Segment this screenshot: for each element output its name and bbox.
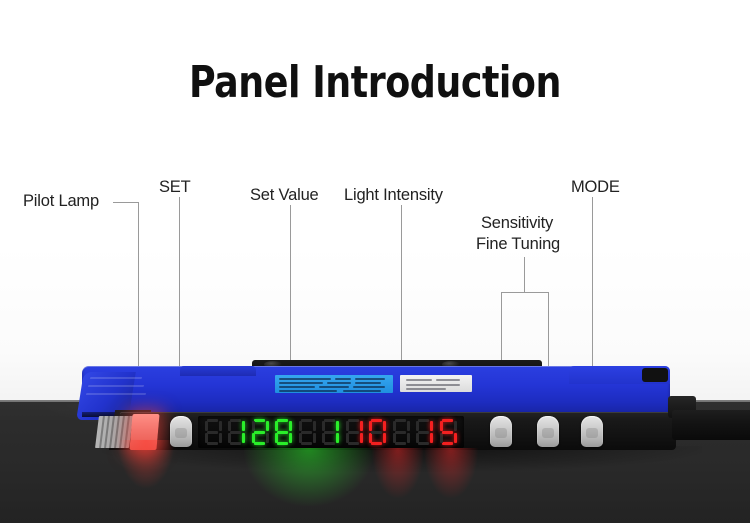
callout-label-set-value: Set Value (250, 186, 319, 205)
segment-d (371, 442, 382, 445)
segment-b (242, 421, 245, 431)
segment-b (219, 421, 222, 431)
segment-a (348, 419, 359, 422)
segment-a (277, 419, 288, 422)
segment-c (242, 433, 245, 443)
segment-g (371, 431, 382, 434)
segment-g (395, 431, 406, 434)
housing-ridge-1 (90, 377, 142, 379)
segment-f (440, 421, 443, 431)
white-spec-sticker (400, 375, 472, 392)
segment-a (207, 419, 218, 422)
segment-g (418, 431, 429, 434)
segment-d (442, 442, 453, 445)
segment-b (313, 421, 316, 431)
segment-e (228, 433, 231, 443)
segment-f (416, 421, 419, 431)
segment-f (299, 421, 302, 431)
segment-c (289, 433, 292, 443)
led-digit-5 (319, 419, 341, 445)
segment-f (228, 421, 231, 431)
segment-e (416, 433, 419, 443)
callout-label-set: SET (159, 178, 191, 197)
segment-b (289, 421, 292, 431)
segment-a (395, 419, 406, 422)
segment-e (205, 433, 208, 443)
segment-e (369, 433, 372, 443)
led-display (198, 416, 464, 448)
led-digit-3 (272, 419, 294, 445)
segment-d (230, 442, 241, 445)
segment-d (254, 442, 265, 445)
segment-f (252, 421, 255, 431)
segment-a (442, 419, 453, 422)
leader-sensitivity-bracket (501, 292, 549, 293)
segment-g (442, 431, 453, 434)
sensitivity-button-2[interactable] (537, 416, 559, 447)
blue-spec-sticker (275, 375, 393, 393)
segment-d (207, 442, 218, 445)
segment-e (275, 433, 278, 443)
segment-c (407, 433, 410, 443)
segment-d (395, 442, 406, 445)
segment-g (348, 431, 359, 434)
pilot-lamp-indicator (129, 414, 159, 450)
segment-a (371, 419, 382, 422)
segment-e (393, 433, 396, 443)
segment-g (230, 431, 241, 434)
led-digit-4 (296, 419, 318, 445)
segment-c (430, 433, 433, 443)
screenshot-canvas: Panel Introduction Pilot Lamp SET Set Va… (0, 0, 750, 523)
callout-label-mode: MODE (571, 178, 620, 197)
callout-label-pilot-lamp: Pilot Lamp (23, 192, 99, 211)
led-digit-6 (343, 419, 365, 445)
segment-d (348, 442, 359, 445)
mode-button[interactable] (581, 416, 603, 447)
housing-ridge-2 (88, 385, 144, 387)
segment-b (383, 421, 386, 431)
led-digit-1 (225, 419, 247, 445)
leader-sensitivity-stem (524, 257, 525, 293)
set-button[interactable] (170, 416, 192, 447)
segment-a (254, 419, 265, 422)
segment-g (301, 431, 312, 434)
segment-e (440, 433, 443, 443)
leader-pilot-lamp-horizontal (113, 202, 139, 203)
page-title: Panel Introduction (30, 57, 720, 108)
segment-b (336, 421, 339, 431)
segment-e (299, 433, 302, 443)
segment-b (454, 421, 457, 431)
segment-g (324, 431, 335, 434)
callout-label-sensitivity-line2: Fine Tuning (476, 234, 560, 254)
segment-a (418, 419, 429, 422)
sensor-device (72, 352, 682, 450)
segment-c (383, 433, 386, 443)
segment-a (324, 419, 335, 422)
segment-b (360, 421, 363, 431)
segment-f (275, 421, 278, 431)
segment-c (266, 433, 269, 443)
led-digit-7 (366, 419, 388, 445)
segment-f (393, 421, 396, 431)
housing-ridge-3 (86, 393, 146, 395)
led-digit-10 (437, 419, 459, 445)
segment-d (301, 442, 312, 445)
segment-g (277, 431, 288, 434)
callout-label-sensitivity-line1: Sensitivity (481, 213, 553, 233)
segment-f (322, 421, 325, 431)
led-digit-2 (249, 419, 271, 445)
segment-b (430, 421, 433, 431)
callout-label-light-intensity: Light Intensity (344, 186, 443, 205)
segment-e (322, 433, 325, 443)
segment-a (301, 419, 312, 422)
segment-b (266, 421, 269, 431)
segment-b (407, 421, 410, 431)
segment-d (324, 442, 335, 445)
segment-g (254, 431, 265, 434)
vent-grille (95, 416, 133, 448)
sensitivity-button-1[interactable] (490, 416, 512, 447)
housing-notch-left (180, 366, 256, 376)
segment-e (252, 433, 255, 443)
segment-c (336, 433, 339, 443)
housing-corner-block (642, 368, 668, 382)
segment-f (346, 421, 349, 431)
segment-f (205, 421, 208, 431)
device-cable-stub (672, 410, 750, 440)
segment-e (346, 433, 349, 443)
segment-f (369, 421, 372, 431)
led-digit-9 (413, 419, 435, 445)
led-digit-0 (202, 419, 224, 445)
segment-a (230, 419, 241, 422)
segment-c (454, 433, 457, 443)
segment-c (360, 433, 363, 443)
segment-d (277, 442, 288, 445)
segment-g (207, 431, 218, 434)
segment-c (219, 433, 222, 443)
led-digit-8 (390, 419, 412, 445)
segment-c (313, 433, 316, 443)
segment-d (418, 442, 429, 445)
